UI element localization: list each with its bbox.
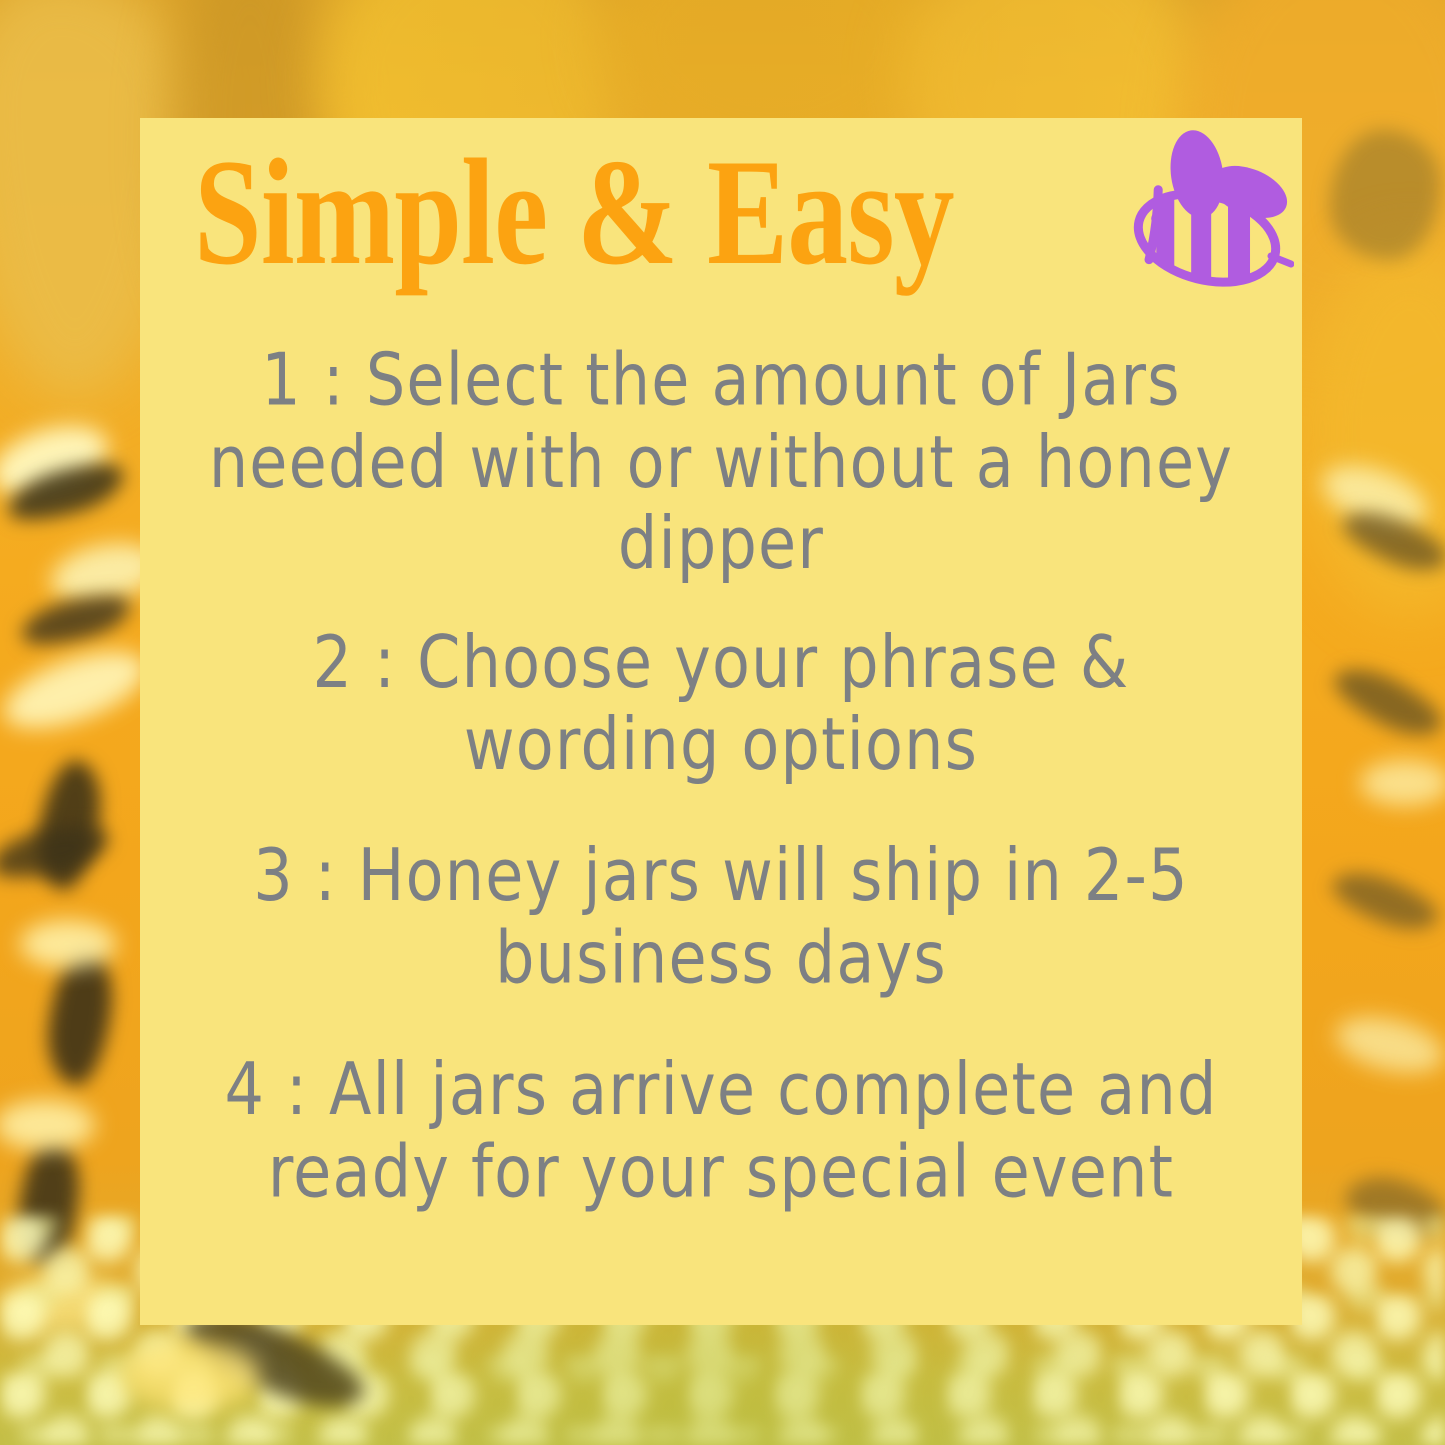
list-item: 4 : All jars arrive complete and ready f… (178, 1033, 1264, 1188)
step-1-text: 1 : Select the amount of Jars needed wit… (178, 328, 1264, 586)
list-item: 2 : Choose your phrase & wording options (178, 608, 1264, 761)
content-card: Simple & Easy (140, 118, 1302, 1325)
list-item: 3 : Honey jars will ship in 2-5 business… (178, 819, 1264, 974)
step-4-text: 4 : All jars arrive complete and ready f… (178, 1033, 1264, 1213)
step-2-text: 2 : Choose your phrase & wording options (178, 608, 1264, 786)
card-header: Simple & Easy (140, 118, 1302, 328)
step-3-text: 3 : Honey jars will ship in 2-5 business… (178, 819, 1264, 999)
steps-list: 1 : Select the amount of Jars needed wit… (178, 328, 1264, 1188)
poster-graphic: Simple & Easy (0, 0, 1445, 1445)
bee-icon (1119, 130, 1294, 290)
page-title: Simple & Easy (194, 136, 954, 288)
list-item: 1 : Select the amount of Jars needed wit… (178, 328, 1264, 550)
